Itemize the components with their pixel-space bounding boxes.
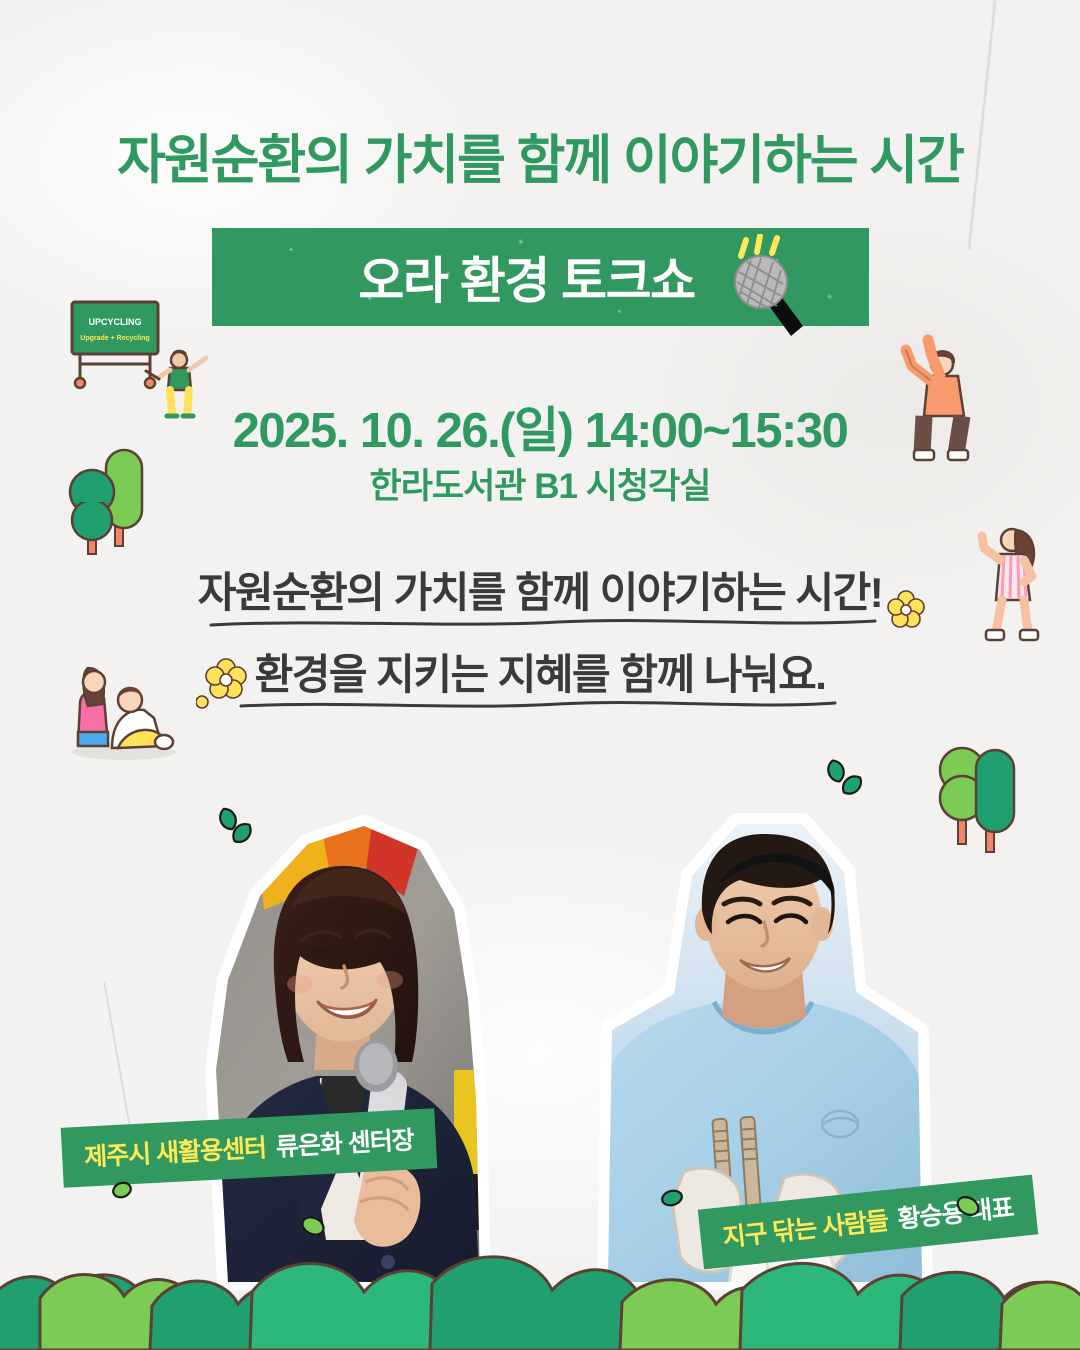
- tree-pair-left-icon: [60, 440, 180, 585]
- leaf-icon: [206, 802, 260, 848]
- flower-icon: [880, 588, 932, 636]
- poster-headline: 자원순환의 가치를 함께 이야기하는 시간: [0, 132, 1080, 190]
- cheering-person-icon: [884, 330, 1014, 472]
- board-line-2: Upgrade + Recycling: [80, 335, 149, 342]
- title-banner: 오라 환경 토크쇼: [212, 228, 869, 326]
- flower-icon: [196, 658, 266, 718]
- tree-pair-right-icon: [920, 742, 1080, 902]
- headline-text: 자원순환의 가치를 함께 이야기하는 시간: [105, 132, 975, 190]
- upcycling-board-icon: UPCYCLING Upgrade + Recycling: [62, 292, 212, 422]
- board-line-1: UPCYCLING: [88, 317, 141, 327]
- speaker-left-name: 류은화 센터장: [275, 1120, 415, 1163]
- poster-canvas: 자원순환의 가치를 함께 이야기하는 시간 오라 환경 토크쇼 2025. 10…: [0, 0, 1080, 1350]
- leaf-icon: [818, 756, 874, 802]
- poster-title: 오라 환경 토크쇼: [358, 241, 694, 313]
- microphone-icon: [725, 234, 821, 338]
- sitting-people-icon: [58, 652, 188, 764]
- standing-woman-icon: [958, 518, 1070, 650]
- bush-row-icon: [0, 1170, 1080, 1350]
- speaker-left-org: 제주시 새활용센터: [83, 1128, 267, 1173]
